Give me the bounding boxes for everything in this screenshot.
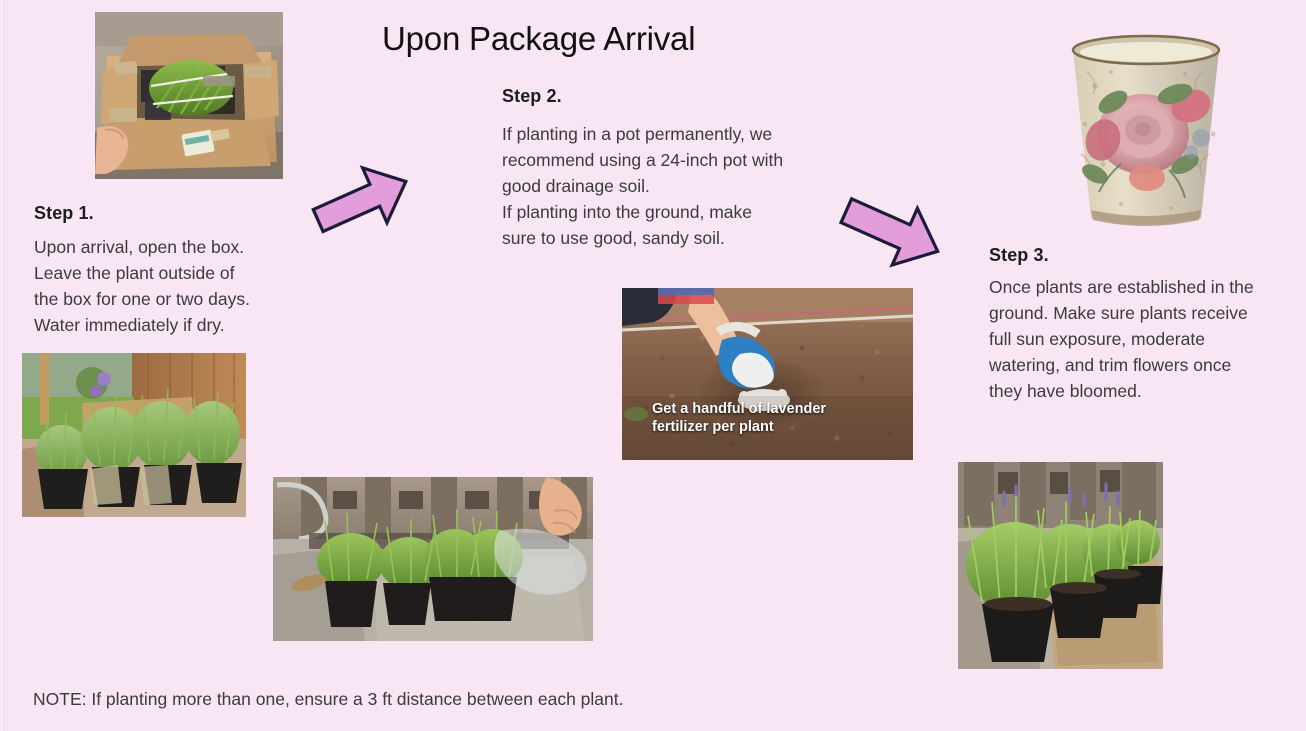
photo-established-plants — [958, 462, 1163, 669]
step-1-heading: Step 1. — [34, 203, 94, 224]
slide-canvas: Upon Package Arrival — [0, 0, 1306, 731]
bottom-note: NOTE: If planting more than one, ensure … — [33, 687, 624, 711]
step-2-body: If planting in a pot permanently, we rec… — [502, 121, 862, 251]
photo-decorative-pot — [1051, 14, 1241, 236]
photo-fertilizer: Get a handful of lavender fertilizer per… — [622, 288, 913, 460]
step-3-heading: Step 3. — [989, 245, 1049, 266]
left-edge-rule — [4, 0, 5, 731]
arrow-step2-to-step3-icon — [836, 186, 948, 276]
photo-lavender-pots-fence — [273, 477, 593, 641]
step-1-body: Upon arrival, open the box. Leave the pl… — [34, 234, 324, 338]
page-title: Upon Package Arrival — [382, 20, 695, 58]
left-edge-rule-secondary — [7, 0, 8, 731]
step-2-heading: Step 2. — [502, 86, 562, 107]
arrow-step1-to-step2-icon — [310, 155, 414, 247]
photo-lavender-pots-yard — [22, 353, 246, 517]
photo-box-of-plants — [95, 12, 283, 179]
step-3-body: Once plants are established in the groun… — [989, 274, 1289, 404]
